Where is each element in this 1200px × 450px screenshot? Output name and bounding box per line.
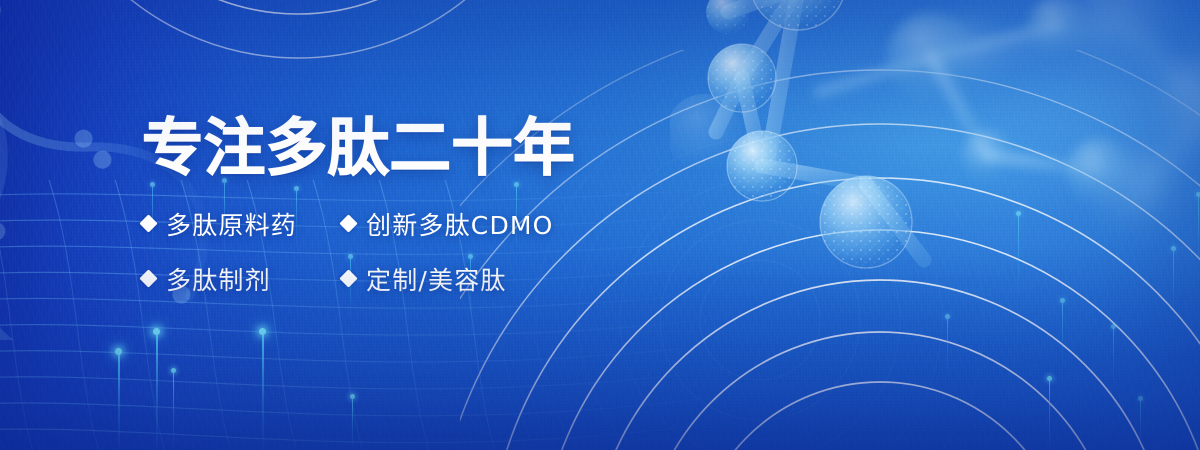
feature-item-peptide-formulation: 多肽制剂 [142,261,342,297]
feature-label: 多肽制剂 [166,261,271,297]
stem-marker [118,352,120,450]
stem-marker [1113,328,1114,384]
feature-list: 多肽原料药 创新多肽CDMO 多肽制剂 定制/美容肽 [142,206,762,297]
hero-banner: 专注多肽二十年 多肽原料药 创新多肽CDMO 多肽制剂 定制/美容肽 [0,0,1200,450]
feature-item-custom-cosmetic-peptide: 定制/美容肽 [342,261,762,297]
feature-label: 创新多肽CDMO [366,206,554,242]
stem-marker [1140,400,1141,450]
banner-content: 专注多肽二十年 多肽原料药 创新多肽CDMO 多肽制剂 定制/美容肽 [142,116,762,297]
stem-marker [352,398,353,450]
diamond-icon [139,215,157,233]
page-title: 专注多肽二十年 [142,116,756,180]
feature-item-peptide-api: 多肽原料药 [142,206,342,242]
diamond-icon [339,215,357,233]
stem-marker [1049,380,1050,450]
feature-item-innovative-cdmo: 创新多肽CDMO [342,206,762,242]
feature-label: 定制/美容肽 [366,261,507,297]
stem-marker [1018,215,1019,295]
diamond-icon [339,270,357,288]
stem-marker [947,318,948,376]
stem-marker [1173,250,1174,314]
diamond-icon [139,270,157,288]
stem-marker [1198,196,1199,266]
feature-label: 多肽原料药 [166,206,297,242]
stem-marker [173,372,174,450]
stem-marker [1062,302,1063,368]
stem-marker [262,332,264,450]
stem-marker [156,332,158,450]
